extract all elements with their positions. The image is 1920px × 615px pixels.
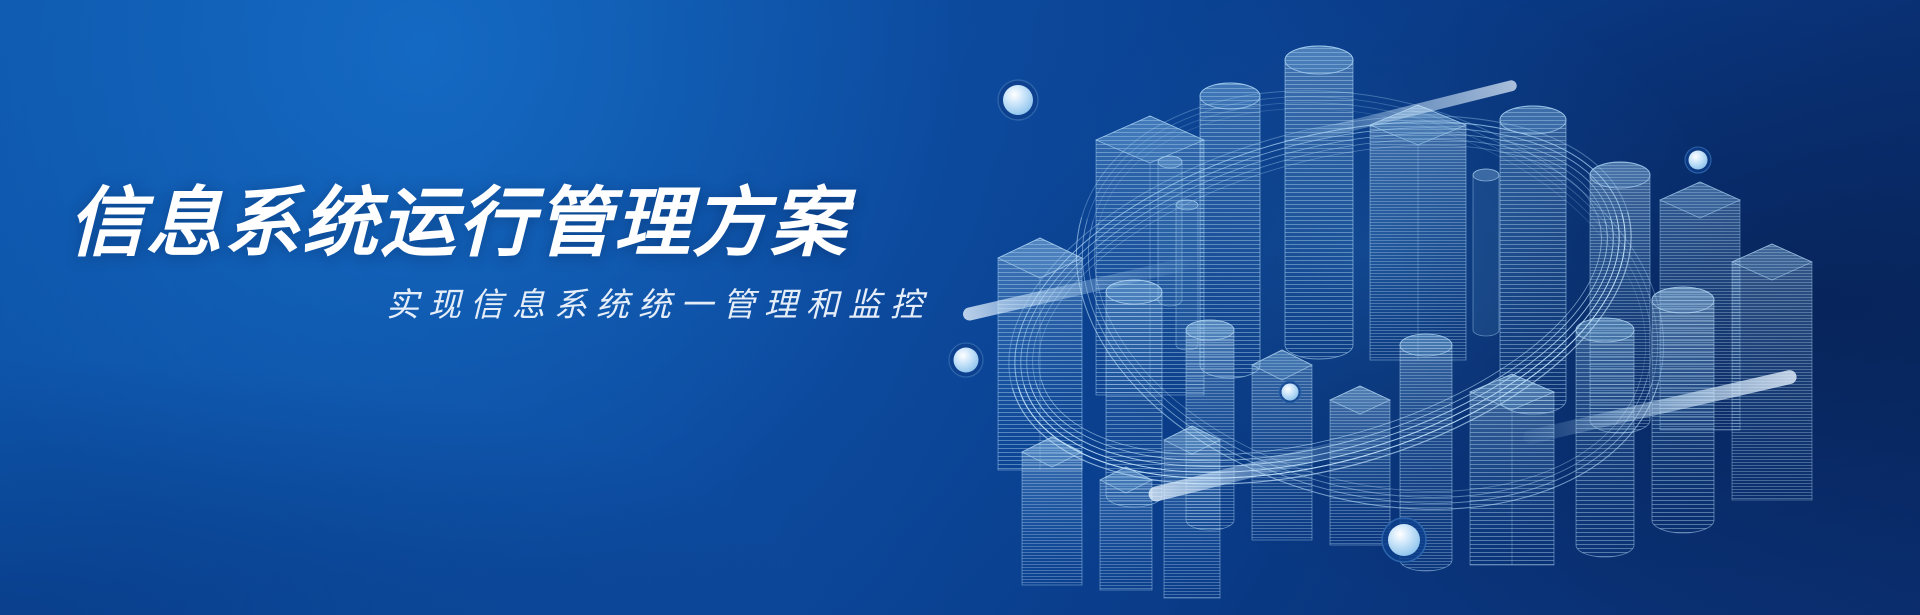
glow-dot-top-left	[998, 80, 1038, 120]
glow-dot-right	[1685, 147, 1711, 173]
glow-dot-bottom	[1382, 518, 1426, 562]
banner-text-block: 信息系统运行管理方案 实现信息系统统一管理和监控	[0, 186, 960, 321]
building-front-5	[1330, 386, 1390, 545]
building-small-1	[1022, 437, 1082, 585]
building-front-10	[1732, 244, 1812, 500]
building-tower-r2	[1285, 46, 1353, 359]
wireframe-city-illustration	[900, 0, 1920, 615]
building-front-8	[1576, 318, 1634, 557]
building-pipe-3	[1473, 169, 1499, 336]
building-front-1	[998, 238, 1082, 470]
page-title: 信息系统运行管理方案	[0, 186, 960, 262]
building-box-r4	[1370, 105, 1466, 360]
building-small-3	[1164, 426, 1220, 598]
building-front-7	[1470, 374, 1554, 565]
building-small-2	[1100, 467, 1152, 590]
glow-dot-center	[1279, 381, 1301, 403]
hero-banner: 信息系统运行管理方案 实现信息系统统一管理和监控	[0, 0, 1920, 615]
building-front-4	[1252, 350, 1312, 540]
glow-dot-mid-left	[949, 343, 983, 377]
page-subtitle: 实现信息系统统一管理和监控	[0, 262, 960, 321]
